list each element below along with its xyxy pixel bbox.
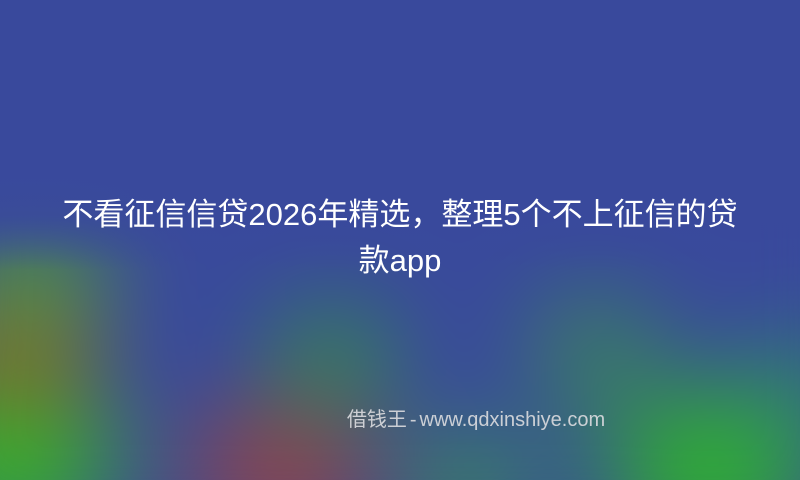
watermark: 借钱王-www.qdxinshiye.com <box>0 407 800 433</box>
banner-title: 不看征信信贷2026年精选，整理5个不上征信的贷款app <box>50 192 750 284</box>
watermark-separator: - <box>407 409 420 431</box>
watermark-brand: 借钱王 <box>347 409 407 431</box>
watermark-site: www.qdxinshiye.com <box>420 409 606 431</box>
promo-banner: 不看征信信贷2026年精选，整理5个不上征信的贷款app 借钱王-www.qdx… <box>0 0 800 480</box>
